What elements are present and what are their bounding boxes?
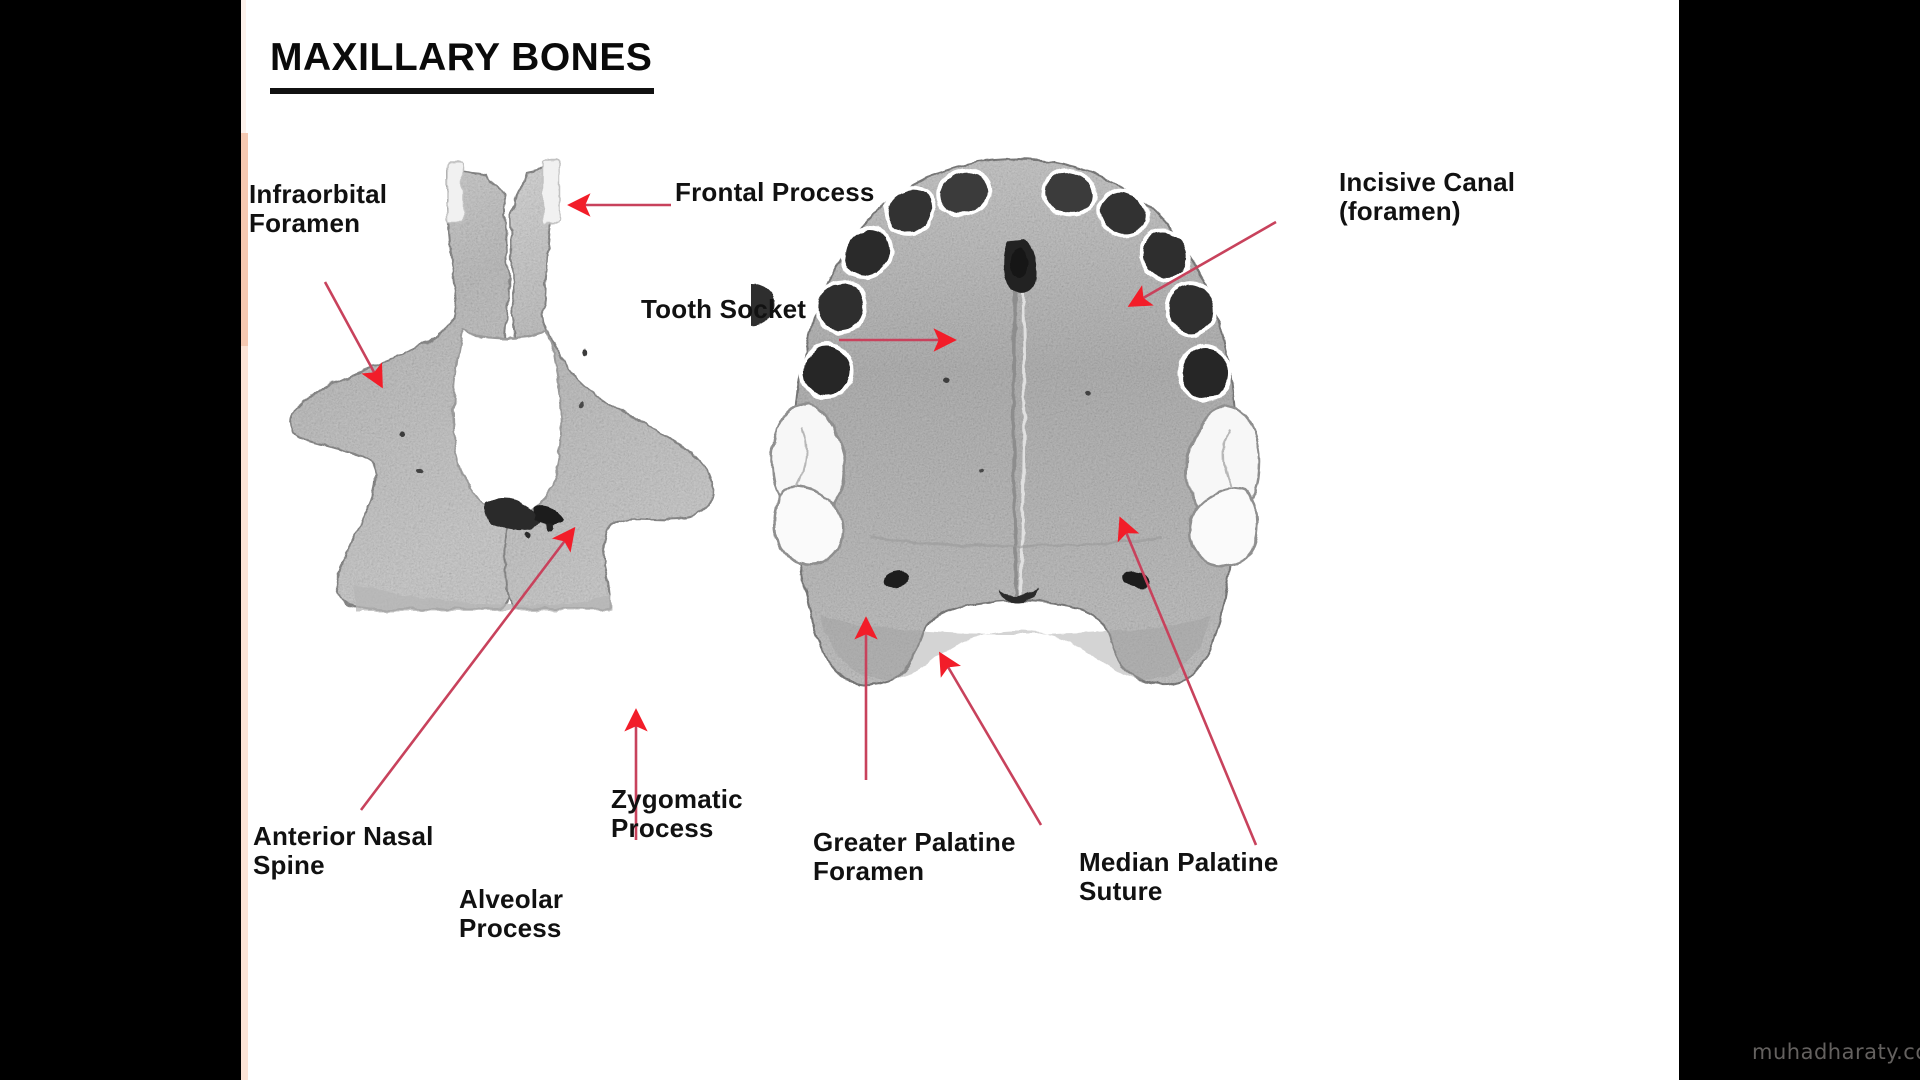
- slide-canvas: MAXILLARY BONES: [241, 0, 1679, 1080]
- page-title: MAXILLARY BONES: [270, 36, 652, 80]
- accent-rule-left-bottom: [241, 266, 248, 346]
- watermark: muhadharaty.com: [1752, 1040, 1920, 1064]
- accent-rule-left-pale: [241, 0, 246, 133]
- title-underline: [270, 88, 654, 94]
- label-greater-palatine-foramen: Greater Palatine Foramen: [813, 828, 1016, 887]
- accent-rule-right-thin: [241, 346, 248, 1080]
- label-frontal-process: Frontal Process: [675, 178, 875, 207]
- accent-rule-left-top: [241, 133, 248, 266]
- label-alveolar-process: Alveolar Process: [459, 885, 563, 944]
- label-median-palatine-suture: Median Palatine Suture: [1079, 848, 1279, 907]
- label-incisive-canal: Incisive Canal (foramen): [1339, 168, 1515, 227]
- label-tooth-socket: Tooth Socket: [641, 295, 806, 324]
- letterbox-bar-left: [0, 0, 241, 1080]
- label-anterior-nasal-spine: Anterior Nasal Spine: [253, 822, 434, 881]
- slide-stage: MAXILLARY BONES: [0, 0, 1920, 1080]
- letterbox-bar-right: [1679, 0, 1920, 1080]
- figure-palatal-maxilla: [751, 145, 1281, 745]
- label-zygomatic-process: Zygomatic Process: [611, 785, 743, 844]
- label-infraorbital-foramen: Infraorbital Foramen: [249, 180, 387, 239]
